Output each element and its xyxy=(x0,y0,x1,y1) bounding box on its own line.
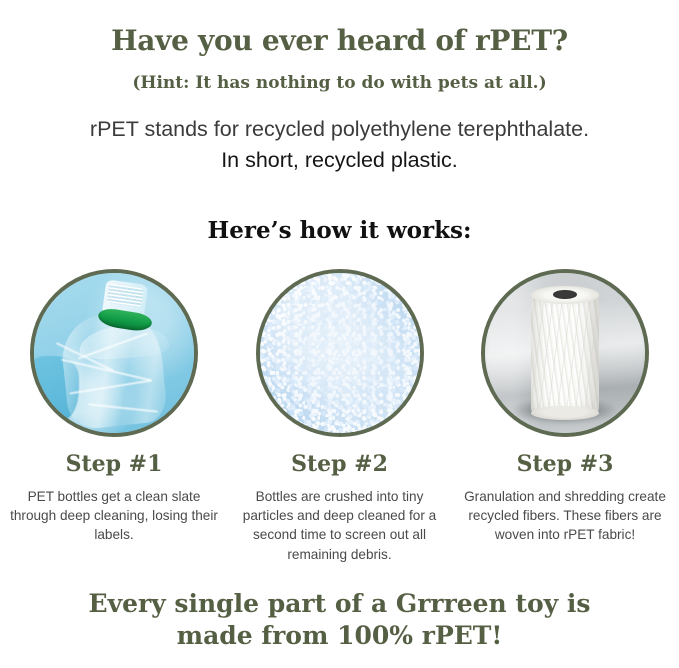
step-2-image-circle xyxy=(256,269,424,437)
section-heading: Here’s how it works: xyxy=(0,217,679,244)
step-1-title: Step #1 xyxy=(66,451,163,477)
step-1-image-circle xyxy=(30,269,198,437)
lede-line-2: In short, recycled plastic. xyxy=(0,146,679,174)
step-2: Step #2 Bottles are crushed into tiny pa… xyxy=(232,269,448,564)
footer-tagline-line-1: Every single part of a Grrreen toy is xyxy=(89,589,591,618)
crushed-pet-bottle-photo xyxy=(34,273,194,433)
step-1: Step #1 PET bottles get a clean slate th… xyxy=(6,269,222,564)
step-3-title: Step #3 xyxy=(517,451,614,477)
footer-tagline-line-2: made from 100% rPET! xyxy=(0,620,679,652)
step-1-caption: PET bottles get a clean slate through de… xyxy=(6,487,222,545)
step-3-image-circle xyxy=(481,269,649,437)
page-subtitle-hint: (Hint: It has nothing to do with pets at… xyxy=(0,74,679,93)
infographic-page: Have you ever heard of rPET? (Hint: It h… xyxy=(0,19,679,668)
step-2-title: Step #2 xyxy=(291,451,388,477)
spool-core-hole xyxy=(553,290,577,300)
footer-tagline: Every single part of a Grrreen toy is ma… xyxy=(0,588,679,652)
page-title: Have you ever heard of rPET? xyxy=(0,19,679,55)
spool-thread-body xyxy=(531,294,598,416)
flake-highlight-overlay xyxy=(260,273,420,433)
step-3: Step #3 Granulation and shredding create… xyxy=(457,269,673,564)
spool-thread-strands xyxy=(531,294,598,416)
lede-line-1: rPET stands for recycled polyethylene te… xyxy=(0,115,679,143)
step-2-caption: Bottles are crushed into tiny particles … xyxy=(232,487,448,564)
spool-bottom-ellipse xyxy=(531,406,598,420)
step-3-caption: Granulation and shredding create recycle… xyxy=(457,487,673,545)
pet-flakes-photo xyxy=(260,273,420,433)
steps-row: Step #1 PET bottles get a clean slate th… xyxy=(0,269,679,564)
recycled-fiber-spool-photo xyxy=(485,273,645,433)
